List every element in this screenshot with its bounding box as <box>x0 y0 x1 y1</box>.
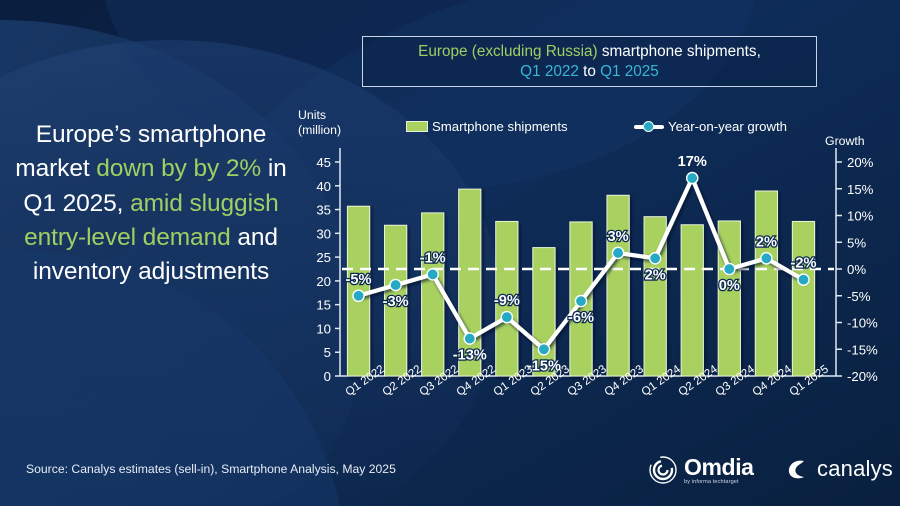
x-axis-label: Q4 2023 <box>602 362 646 398</box>
canalys-mark-icon <box>784 456 810 482</box>
x-axis-label: Q1 2025 <box>787 362 831 398</box>
x-axis-label: Q3 2024 <box>713 362 757 398</box>
x-axis-label: Q4 2022 <box>454 362 498 398</box>
headline: Europe’s smartphone market down by by 2%… <box>6 118 296 289</box>
x-axis-label: Q2 2022 <box>380 362 424 398</box>
omdia-mark-icon <box>648 455 678 485</box>
chart-title-text: Europe (excluding Russia) smartphone shi… <box>418 42 761 82</box>
x-axis-label: Q1 2022 <box>343 362 387 398</box>
x-axis-labels: Q1 2022Q2 2022Q3 2022Q4 2022Q1 2023Q2 20… <box>288 104 900 454</box>
title-segment-white-2: to <box>579 63 600 80</box>
canalys-wordmark: canalys <box>817 456 893 482</box>
x-axis-label: Q2 2023 <box>528 362 572 398</box>
headline-segment-2: down by by 2% <box>96 155 261 182</box>
title-segment-cyan-2: Q1 2025 <box>600 63 659 80</box>
x-axis-label: Q3 2022 <box>417 362 461 398</box>
x-axis-label: Q4 2024 <box>750 362 794 398</box>
chart-title-box: Europe (excluding Russia) smartphone shi… <box>362 36 817 87</box>
title-segment-white-1: smartphone shipments, <box>598 43 761 60</box>
x-axis-label: Q2 2024 <box>676 362 720 398</box>
title-segment-green: Europe (excluding Russia) <box>418 43 597 60</box>
omdia-wordmark: Omdia <box>684 454 754 481</box>
logo-row: Omdia by informa techtarget canalys <box>648 452 886 492</box>
title-segment-cyan-1: Q1 2022 <box>520 63 579 80</box>
x-axis-label: Q1 2024 <box>639 362 683 398</box>
x-axis-label: Q1 2023 <box>491 362 535 398</box>
chart-container: Units (million) Growth Smartphone shipme… <box>288 104 900 454</box>
source-note: Source: Canalys estimates (sell-in), Sma… <box>26 462 396 476</box>
x-axis-label: Q3 2023 <box>565 362 609 398</box>
